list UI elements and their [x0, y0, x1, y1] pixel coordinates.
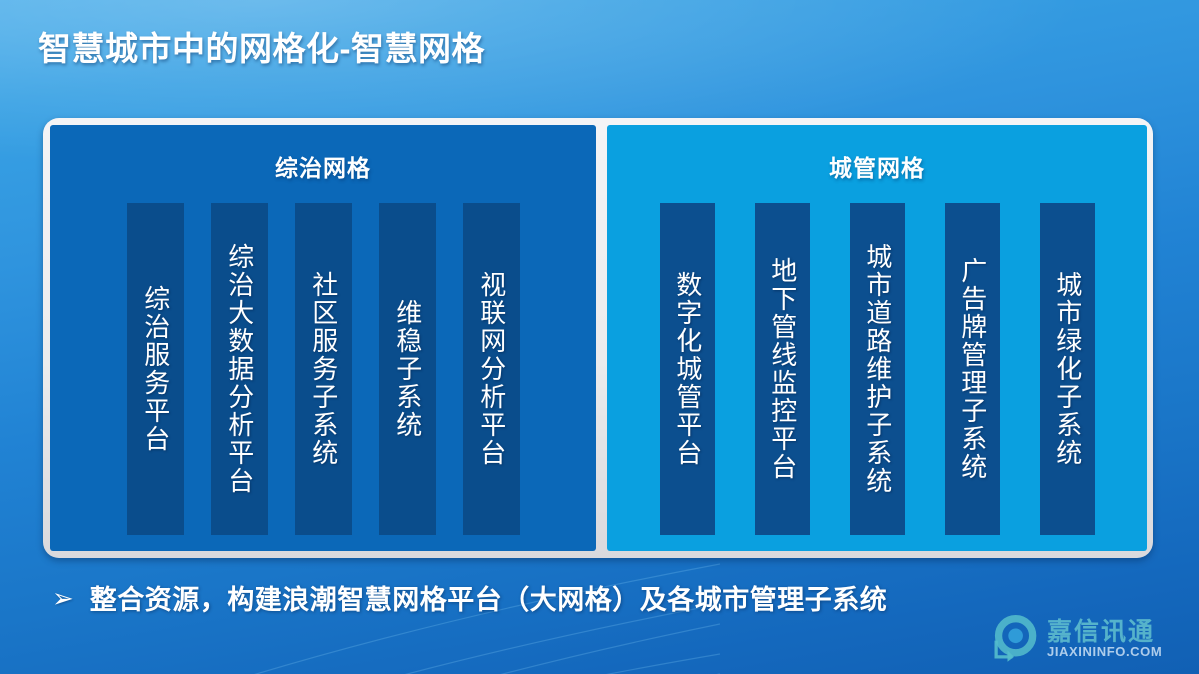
bar-label: 地下管线监控平台 [768, 257, 796, 481]
watermark-text: 嘉信讯通 JIAXININFO.COM [1047, 619, 1162, 660]
bar-item[interactable]: 城市绿化子系统 [1040, 203, 1095, 535]
bar-group-right: 数字化城管平台 地下管线监控平台 城市道路维护子系统 广告牌管理子系统 城市绿化… [607, 203, 1147, 535]
slide-canvas: 智慧城市中的网格化-智慧网格 综治网格 综治服务平台 综治大数据分析平台 社区服… [0, 0, 1199, 674]
bar-item[interactable]: 视联网分析平台 [463, 203, 520, 535]
watermark-cn: 嘉信讯通 [1047, 619, 1162, 645]
bar-item[interactable]: 综治大数据分析平台 [211, 203, 268, 535]
jiaxin-logo-icon [988, 613, 1040, 665]
panel-comprehensive-governance-grid: 综治网格 综治服务平台 综治大数据分析平台 社区服务子系统 维稳子系统 视联网分… [50, 125, 596, 551]
bullet-arrow-icon: ➢ [52, 585, 74, 611]
bar-label: 广告牌管理子系统 [958, 257, 986, 481]
page-title: 智慧城市中的网格化-智慧网格 [38, 22, 485, 70]
bar-item[interactable]: 城市道路维护子系统 [850, 203, 905, 535]
bar-label: 数字化城管平台 [673, 271, 701, 467]
bar-label: 城市道路维护子系统 [863, 243, 891, 495]
watermark-en: JIAXININFO.COM [1047, 645, 1162, 659]
panel-title-left: 综治网格 [50, 125, 596, 183]
content-frame: 综治网格 综治服务平台 综治大数据分析平台 社区服务子系统 维稳子系统 视联网分… [43, 118, 1153, 558]
bar-label: 综治大数据分析平台 [225, 243, 253, 495]
summary-bullet: ➢ 整合资源，构建浪潮智慧网格平台（大网格）及各城市管理子系统 [52, 578, 887, 617]
bar-item[interactable]: 社区服务子系统 [295, 203, 352, 535]
bar-label: 综治服务平台 [141, 285, 169, 453]
bar-label: 城市绿化子系统 [1053, 271, 1081, 467]
bar-group-left: 综治服务平台 综治大数据分析平台 社区服务子系统 维稳子系统 视联网分析平台 [50, 203, 596, 535]
bar-item[interactable]: 维稳子系统 [379, 203, 436, 535]
bar-item[interactable]: 广告牌管理子系统 [945, 203, 1000, 535]
bar-label: 社区服务子系统 [309, 271, 337, 467]
bar-item[interactable]: 地下管线监控平台 [755, 203, 810, 535]
watermark-logo: 嘉信讯通 JIAXININFO.COM [988, 608, 1193, 670]
bar-item[interactable]: 综治服务平台 [127, 203, 184, 535]
panel-title-right: 城管网格 [607, 125, 1147, 183]
panel-urban-management-grid: 城管网格 数字化城管平台 地下管线监控平台 城市道路维护子系统 广告牌管理子系统… [607, 125, 1147, 551]
bar-label: 视联网分析平台 [477, 271, 505, 467]
bar-item[interactable]: 数字化城管平台 [660, 203, 715, 535]
summary-bullet-text: 整合资源，构建浪潮智慧网格平台（大网格）及各城市管理子系统 [90, 578, 888, 617]
bar-label: 维稳子系统 [393, 299, 421, 439]
